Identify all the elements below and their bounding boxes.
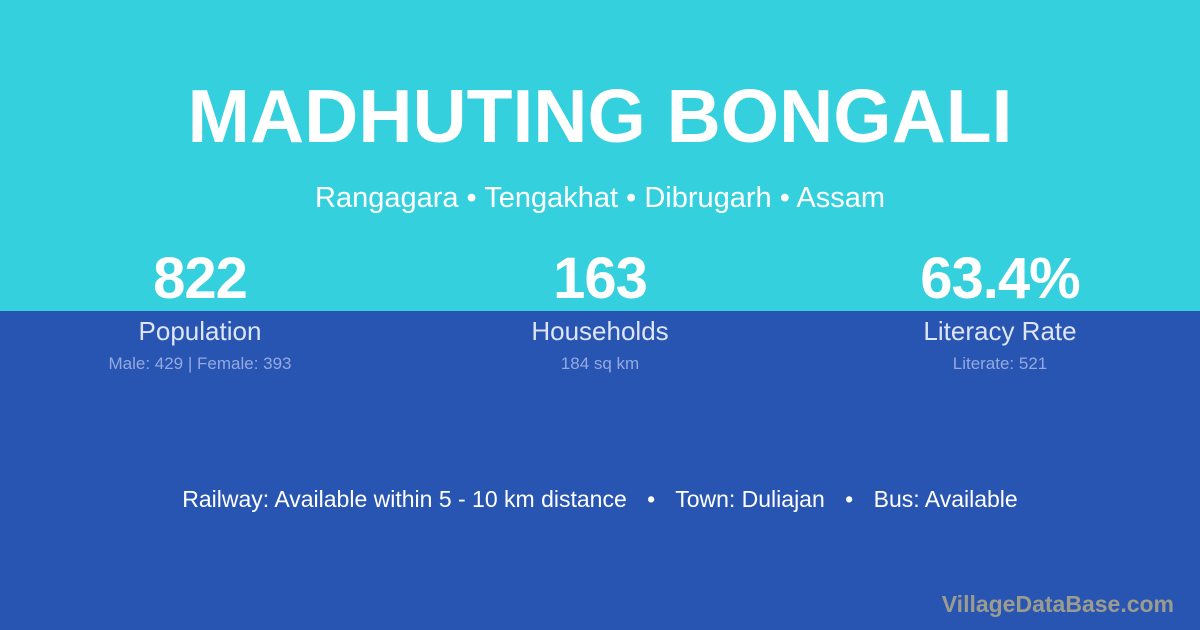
- amenity-separator-2: •: [831, 484, 867, 514]
- stat-population-sub: Male: 429 | Female: 393: [0, 354, 400, 374]
- stat-households: 163 Households 184 sq km: [400, 248, 800, 374]
- stat-population: 822 Population Male: 429 | Female: 393: [0, 248, 400, 374]
- stats-row: 822 Population Male: 429 | Female: 393 1…: [0, 248, 1200, 374]
- stat-literacy: 63.4% Literacy Rate Literate: 521: [800, 248, 1200, 374]
- site-brand-logo: VillageDataBase.com: [942, 590, 1174, 618]
- amenity-town: Town: Duliajan: [675, 486, 825, 512]
- village-info-card: MADHUTING BONGALI Rangagara • Tengakhat …: [0, 0, 1200, 630]
- amenity-separator-1: •: [633, 484, 669, 514]
- amenity-railway: Railway: Available within 5 - 10 km dist…: [182, 486, 626, 512]
- stat-population-value: 822: [0, 248, 400, 310]
- stat-literacy-label: Literacy Rate: [800, 316, 1200, 346]
- amenities-strip: Railway: Available within 5 - 10 km dist…: [0, 484, 1200, 514]
- stat-households-value: 163: [400, 248, 800, 310]
- amenity-bus: Bus: Available: [874, 486, 1018, 512]
- stat-literacy-sub: Literate: 521: [800, 354, 1200, 374]
- stat-households-sub: 184 sq km: [400, 354, 800, 374]
- stat-population-label: Population: [0, 316, 400, 346]
- stat-literacy-value: 63.4%: [800, 248, 1200, 310]
- page-title: MADHUTING BONGALI: [0, 79, 1200, 154]
- stat-households-label: Households: [400, 316, 800, 346]
- breadcrumb: Rangagara • Tengakhat • Dibrugarh • Assa…: [0, 181, 1200, 216]
